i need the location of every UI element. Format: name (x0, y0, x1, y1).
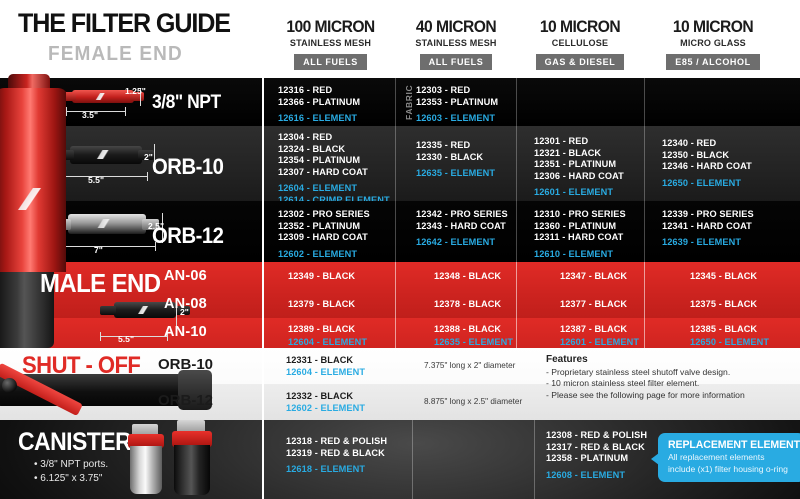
cell-male-element-10micron-microglass: 12650 - ELEMENT (690, 337, 769, 349)
cell-orb12-10micron-microglass: 12339 - PRO SERIES 12341 - HARD COAT 126… (662, 209, 754, 249)
cell-orb10-40micron: 12335 - RED 12330 - BLACK 12635 - ELEMEN… (416, 140, 495, 180)
shutoff-orb12-description: 8.875" long x 2.5" diameter (424, 397, 522, 406)
cell-canister-100micron: 12318 - RED & POLISH 12319 - RED & BLACK… (286, 436, 387, 476)
column-media: STAINLESS MESH (271, 38, 390, 49)
row-orb12: 7" 2.5" ORB-12 12302 - PRO SERIES 12352 … (0, 201, 800, 262)
cell-male-element-40micron: 12635 - ELEMENT (434, 337, 513, 349)
canister-bullet: • 3/8" NPT ports. (34, 458, 108, 472)
page-title: THE FILTER GUIDE (18, 10, 260, 37)
cell-shutoff-orb10-part: 12331 - BLACK 12604 - ELEMENT (286, 355, 365, 378)
cell-an08-10micron-microglass: 12375 - BLACK (690, 299, 757, 311)
feature-item: - Proprietary stainless steel shutoff va… (546, 367, 745, 378)
row-label-an06: AN-06 (164, 268, 207, 284)
cell-an10-10micron-cellulose: 12387 - BLACK (560, 324, 627, 336)
cell-an08-10micron-cellulose: 12377 - BLACK (560, 299, 627, 311)
section-title-male-end: MALE END (40, 268, 161, 299)
features-block: Features - Proprietary stainless steel s… (546, 354, 745, 401)
cell-an08-40micron: 12378 - BLACK (434, 299, 501, 311)
cell-male-element-100micron: 12604 - ELEMENT (288, 337, 367, 349)
cell-shutoff-orb12-part: 12332 - BLACK 12602 - ELEMENT (286, 391, 365, 414)
filter-guide-page: THE FILTER GUIDE FEMALE END 100 MICRON S… (0, 0, 800, 499)
row-label-npt: 3/8" NPT (152, 92, 221, 114)
features-title: Features (546, 354, 745, 365)
section-canister: CANISTER • 3/8" NPT ports. • 6.125" x 3.… (0, 420, 800, 499)
row-npt: 3.5" 1.25" 3/8" NPT FABRIC 12316 - RED 1… (0, 78, 800, 126)
cell-an06-10micron-cellulose: 12347 - BLACK (560, 271, 627, 283)
cell-an06-40micron: 12348 - BLACK (434, 271, 501, 283)
shutoff-orb10-description: 7.375" long x 2" diameter (424, 361, 515, 370)
cell-an06-100micron: 12349 - BLACK (288, 271, 355, 283)
cell-orb12-40micron: 12342 - PRO SERIES 12343 - HARD COAT 126… (416, 209, 508, 249)
column-micron: 10 MICRON (524, 18, 636, 35)
feature-item: - Please see the following page for more… (546, 390, 745, 401)
row-label-orb10: ORB-10 (152, 154, 223, 180)
cell-orb10-10micron-cellulose: 12301 - RED 12321 - BLACK 12351 - PLATIN… (534, 136, 624, 199)
replacement-callout-line1: All replacement elements (668, 452, 796, 463)
column-micron: 100 MICRON (273, 18, 388, 35)
cell-canister-10micron-cellulose: 12308 - RED & POLISH 12317 - RED & BLACK… (546, 430, 647, 481)
dimension-diameter: 1.25" (125, 86, 146, 96)
cell-an06-10micron-microglass: 12345 - BLACK (690, 271, 757, 283)
column-header-0: 100 MICRON STAINLESS MESH ALL FUELS (268, 18, 393, 70)
dimension-length: 3.5" (82, 110, 98, 120)
column-micron: 10 MICRON (653, 18, 773, 35)
cell-an10-40micron: 12388 - BLACK (434, 324, 501, 336)
cell-an10-10micron-microglass: 12385 - BLACK (690, 324, 757, 336)
row-label-an10: AN-10 (164, 324, 207, 340)
dimension-length: 5.5" (118, 334, 134, 344)
canister-bullet: • 6.125" x 3.75" (34, 472, 102, 486)
section-title-canister: CANISTER (18, 428, 131, 457)
cell-orb12-100micron: 12302 - PRO SERIES 12352 - PLATINUM 1230… (278, 209, 370, 260)
row-label-shutoff-orb12: ORB-12 (158, 392, 213, 409)
cell-npt-40micron: 12303 - RED 12353 - PLATINUM 12603 - ELE… (416, 85, 498, 125)
feature-item: - 10 micron stainless steel filter eleme… (546, 378, 745, 389)
dimension-length: 5.5" (88, 175, 104, 185)
product-image-orb10 (58, 142, 158, 170)
cell-male-element-10micron-cellulose: 12601 - ELEMENT (560, 337, 639, 349)
product-grid: 3.5" 1.25" 3/8" NPT FABRIC 12316 - RED 1… (0, 78, 800, 499)
title-block: THE FILTER GUIDE FEMALE END (18, 10, 278, 66)
replacement-callout-line2: include (x1) filter housing o-ring (668, 464, 796, 475)
row-label-orb12: ORB-12 (152, 223, 223, 249)
row-orb10: 5.5" 2" ORB-10 12304 - RED 12324 - BLACK… (0, 126, 800, 201)
product-image-canister-polish (124, 424, 170, 496)
cell-orb10-10micron-microglass: 12340 - RED 12350 - BLACK 12346 - HARD C… (662, 138, 752, 189)
row-label-shutoff-orb10: ORB-10 (158, 356, 213, 373)
cell-orb12-10micron-cellulose: 12310 - PRO SERIES 12360 - PLATINUM 1231… (534, 209, 626, 260)
cell-an10-100micron: 12389 - BLACK (288, 324, 355, 336)
replacement-callout-title: REPLACEMENT ELEMENTS (668, 439, 791, 451)
page-subtitle: FEMALE END (48, 43, 267, 66)
product-image-canister-black (168, 420, 218, 498)
column-header-1: 40 MICRON STAINLESS MESH ALL FUELS (397, 18, 515, 70)
row-label-an08: AN-08 (164, 296, 207, 312)
section-title-shut-off: SHUT - OFF (22, 352, 140, 380)
column-media: STAINLESS MESH (400, 38, 512, 49)
column-media: CELLULOSE (522, 38, 638, 49)
section-shut-off: SHUT - OFF ORB-10 ORB-12 12331 - BLACK 1… (0, 348, 800, 420)
column-header-2: 10 MICRON CELLULOSE GAS & DIESEL (519, 18, 641, 70)
replacement-elements-callout: REPLACEMENT ELEMENTS All replacement ele… (658, 433, 800, 482)
column-fuel-badge: E85 / ALCOHOL (666, 54, 759, 70)
cell-orb10-100micron: 12304 - RED 12324 - BLACK 12354 - PLATIN… (278, 132, 390, 207)
column-media: MICRO GLASS (651, 38, 775, 49)
column-fuel-badge: GAS & DIESEL (536, 54, 625, 70)
section-male-end: MALE END 5.5" 2" AN-06 AN-08 AN-10 12349… (0, 262, 800, 348)
cell-npt-100micron: 12316 - RED 12366 - PLATINUM 12616 - ELE… (278, 85, 360, 125)
fabric-label: FABRIC (404, 86, 414, 120)
dimension-length: 7" (94, 245, 103, 255)
column-fuel-badge: ALL FUELS (294, 54, 367, 70)
column-fuel-badge: ALL FUELS (420, 54, 493, 70)
column-header-3: 10 MICRON MICRO GLASS E85 / ALCOHOL (648, 18, 778, 70)
cell-an08-100micron: 12379 - BLACK (288, 299, 355, 311)
column-micron: 40 MICRON (402, 18, 511, 35)
